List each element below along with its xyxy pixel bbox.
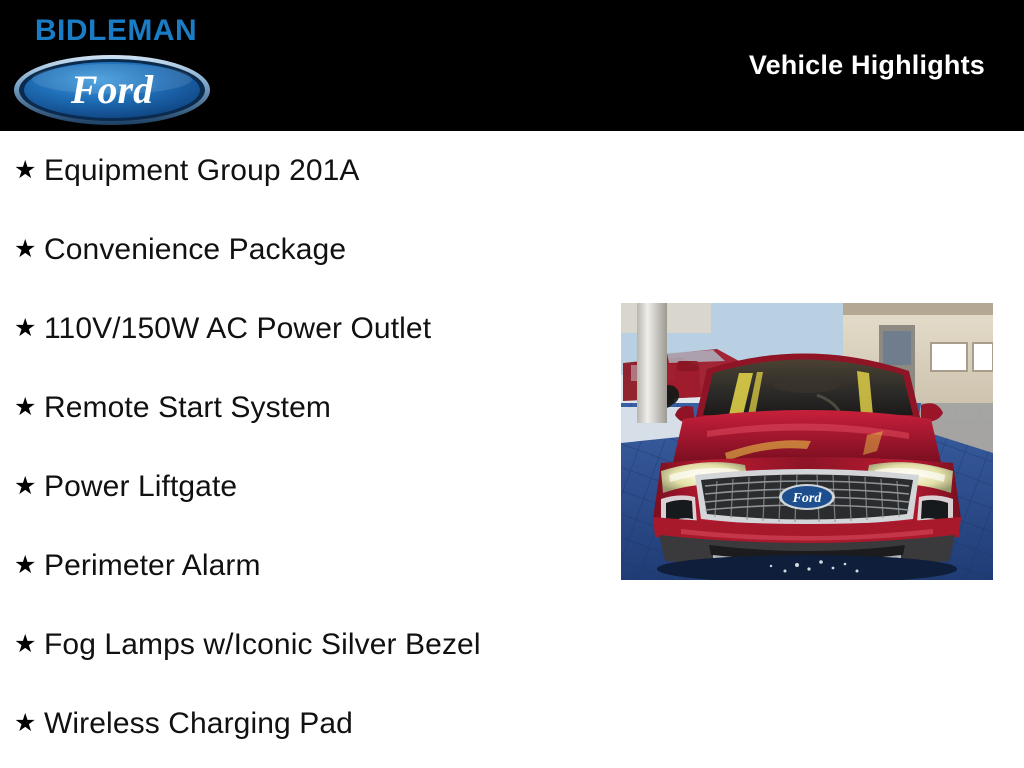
star-bullet-icon: ★	[14, 368, 36, 447]
list-item: ★ Perimeter Alarm	[0, 526, 600, 605]
list-item-label: Wireless Charging Pad	[44, 707, 353, 740]
list-item-label: 110V/150W AC Power Outlet	[44, 312, 431, 345]
header-bar: BIDLEMAN	[0, 0, 1024, 131]
page-title: Vehicle Highlights	[749, 50, 985, 81]
dealer-logo[interactable]: BIDLEMAN	[6, 14, 216, 126]
star-bullet-icon: ★	[14, 605, 36, 684]
list-item-label: Remote Start System	[44, 391, 331, 424]
svg-text:Ford: Ford	[792, 491, 823, 506]
list-item: ★ Equipment Group 201A	[0, 131, 600, 210]
star-bullet-icon: ★	[14, 526, 36, 605]
list-item-label: Power Liftgate	[44, 470, 237, 503]
star-bullet-icon: ★	[14, 447, 36, 526]
star-bullet-icon: ★	[14, 684, 36, 763]
list-item: ★ Convenience Package	[0, 210, 600, 289]
star-bullet-icon: ★	[14, 289, 36, 368]
vehicle-highlights-list: ★ Equipment Group 201A ★ Convenience Pac…	[0, 131, 600, 763]
star-bullet-icon: ★	[14, 210, 36, 289]
ford-oval-logo-icon: Ford	[12, 53, 212, 127]
dealer-name-text: BIDLEMAN	[16, 14, 216, 48]
svg-text:Ford: Ford	[70, 67, 154, 112]
list-item-label: Convenience Package	[44, 233, 346, 266]
list-item-label: Perimeter Alarm	[44, 549, 261, 582]
list-item-label: Equipment Group 201A	[44, 154, 360, 187]
star-bullet-icon: ★	[14, 131, 36, 210]
list-item: ★ Fog Lamps w/Iconic Silver Bezel	[0, 605, 600, 684]
list-item: ★ Wireless Charging Pad	[0, 684, 600, 763]
list-item: ★ 110V/150W AC Power Outlet	[0, 289, 600, 368]
list-item-label: Fog Lamps w/Iconic Silver Bezel	[44, 628, 481, 661]
list-item: ★ Power Liftgate	[0, 447, 600, 526]
vehicle-photo: Ford	[621, 303, 993, 580]
list-item: ★ Remote Start System	[0, 368, 600, 447]
